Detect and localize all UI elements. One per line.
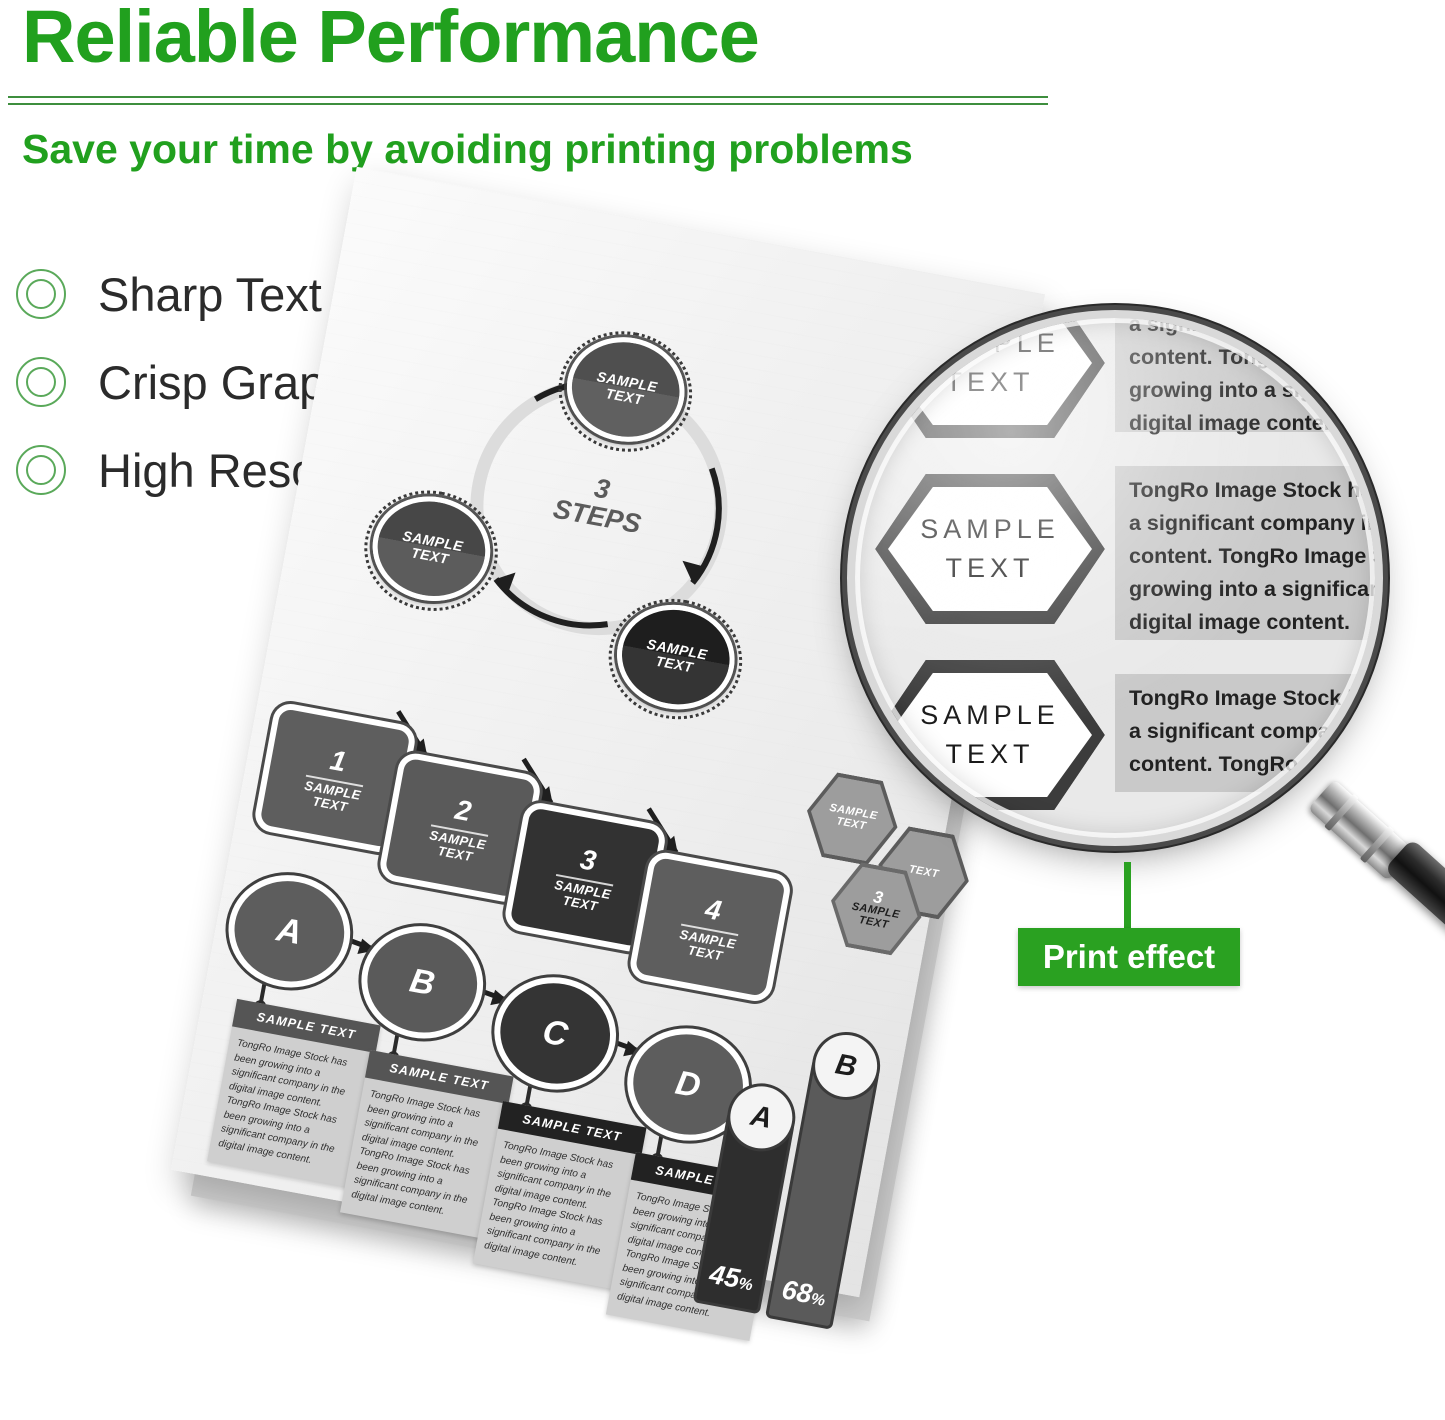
magnified-line: content. TongRo Image Stock has been: [1129, 540, 1375, 573]
magnifier-lens: SAMPLETEXT a significant company in the …: [855, 318, 1375, 838]
magnified-line: growing into a significant company in th…: [1129, 374, 1375, 407]
double-circle-icon: [16, 269, 66, 319]
magnified-line: growing into a significant company in th…: [1129, 573, 1375, 606]
percent-bar-value: 68%: [779, 1274, 828, 1313]
divider-line-top: [8, 96, 1048, 98]
magnified-hexagon-text: SAMPLETEXT: [920, 324, 1060, 402]
magnifying-glass: SAMPLETEXT a significant company in the …: [855, 318, 1435, 918]
feature-label: Sharp Text: [98, 267, 322, 322]
magnified-hexagon-1: SAMPLETEXT: [875, 318, 1105, 438]
title-divider: [8, 96, 1048, 104]
magnified-line: a significant company in the digital ima…: [1129, 318, 1375, 341]
magnified-text-block-1: a significant company in the digital ima…: [1115, 318, 1375, 432]
magnified-hexagon-3: SAMPLETEXT: [875, 660, 1105, 810]
percent-bar-value: 45%: [707, 1259, 756, 1298]
print-effect-badge: Print effect: [1018, 928, 1240, 986]
page-title: Reliable Performance: [22, 0, 759, 77]
magnified-line: a significant company in the digital ima…: [1129, 507, 1375, 540]
magnified-line: a significant company in the digital ima…: [1129, 715, 1375, 748]
magnified-line: content. TongRo Image Stock has been: [1129, 341, 1375, 374]
magnified-content: SAMPLETEXT a significant company in the …: [855, 318, 1375, 838]
magnified-line: digital image content.: [1129, 407, 1375, 440]
double-circle-icon: [16, 357, 66, 407]
double-circle-icon: [16, 445, 66, 495]
magnified-line: TongRo Image Stock has been growing into: [1129, 474, 1375, 507]
page-subtitle: Save your time by avoiding printing prob…: [22, 126, 913, 173]
divider-line-bottom: [8, 103, 1048, 105]
badge-connector-line: [1124, 862, 1131, 930]
magnified-line: TongRo Image Stock has been growing into: [1129, 682, 1375, 715]
magnified-hexagon-text: SAMPLETEXT: [920, 510, 1060, 588]
magnified-line: content. TongRo Image Stock has been: [1129, 748, 1375, 781]
magnified-text-block-3: TongRo Image Stock has been growing into…: [1115, 674, 1375, 792]
magnified-text-block-2: TongRo Image Stock has been growing into…: [1115, 466, 1375, 640]
print-effect-label: Print effect: [1043, 938, 1215, 976]
magnified-hexagon-text: SAMPLETEXT: [920, 696, 1060, 774]
magnified-hexagon-2: SAMPLETEXT: [875, 474, 1105, 624]
magnified-line: digital image content.: [1129, 606, 1375, 639]
